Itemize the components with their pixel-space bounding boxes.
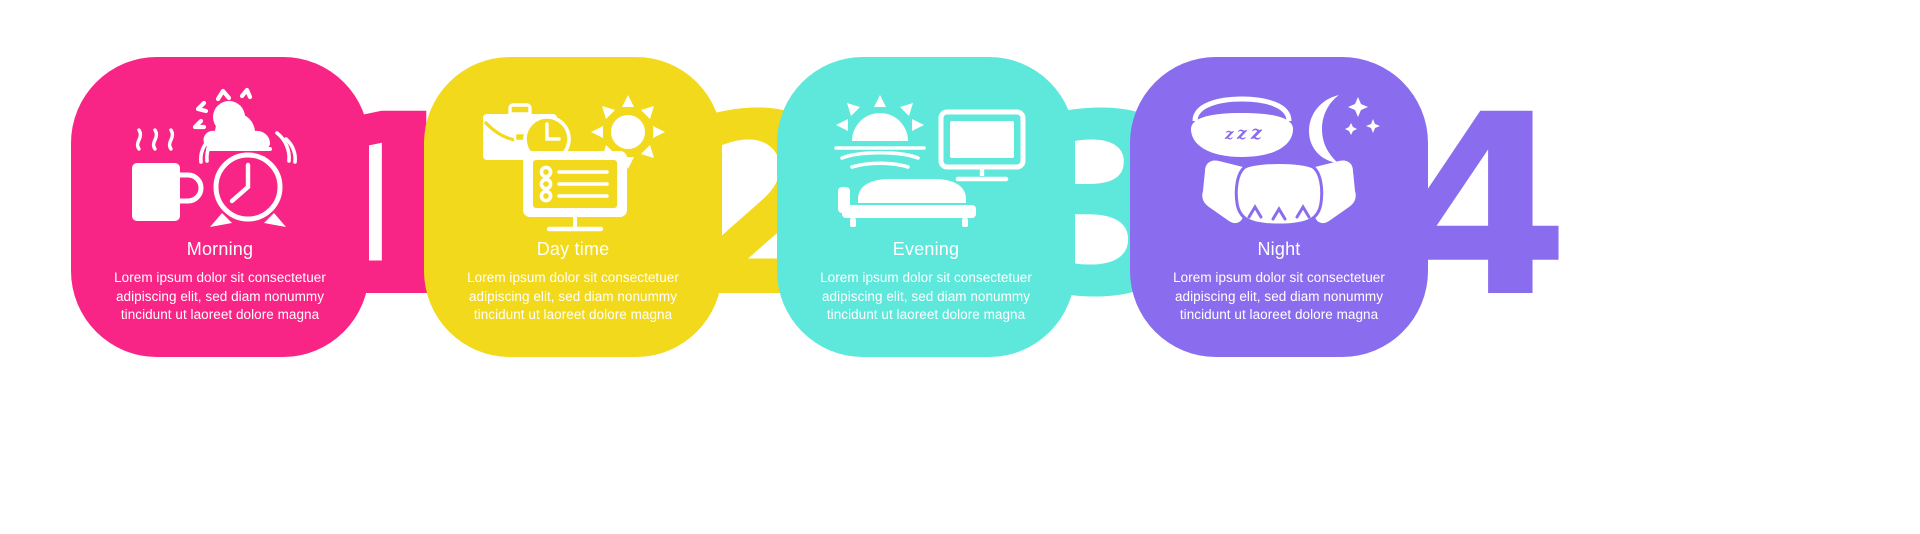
step-icons-4: z z z xyxy=(1173,85,1385,235)
step-content-3: Evening Lorem ipsum dolor sit consectetu… xyxy=(777,57,1075,357)
svg-text:z: z xyxy=(1236,124,1247,144)
step-icons-2 xyxy=(467,85,679,235)
bed-icon xyxy=(836,169,982,231)
step-content-1: Morning Lorem ipsum dolor sit consectetu… xyxy=(71,57,369,357)
step-body-line: adipiscing elit, sed diam nonummy xyxy=(440,288,706,307)
step-body-2: Lorem ipsum dolor sit consectetuer adipi… xyxy=(440,269,706,325)
step-panel-4[interactable]: 4 z z z xyxy=(1130,57,1428,357)
step-body-line: Lorem ipsum dolor sit consectetuer xyxy=(1146,269,1412,288)
step-panel-3[interactable]: 3 xyxy=(777,57,1075,357)
svg-text:z: z xyxy=(1224,125,1234,143)
step-panel-2[interactable]: 2 xyxy=(424,57,722,357)
step-body-line: Lorem ipsum dolor sit consectetuer xyxy=(440,269,706,288)
step-label-4: Night xyxy=(1257,239,1300,260)
step-body-line: adipiscing elit, sed diam nonummy xyxy=(793,288,1059,307)
step-body-line: adipiscing elit, sed diam nonummy xyxy=(1146,288,1412,307)
step-label-1: Morning xyxy=(187,239,253,260)
step-body-line: adipiscing elit, sed diam nonummy xyxy=(87,288,353,307)
pillows-icon xyxy=(1195,155,1363,231)
step-content-2: Day time Lorem ipsum dolor sit consectet… xyxy=(424,57,722,357)
step-icons-3 xyxy=(820,85,1032,235)
step-body-line: tincidunt ut laoreet dolore magna xyxy=(87,306,353,325)
svg-text:z: z xyxy=(1250,122,1263,144)
step-body-4: Lorem ipsum dolor sit consectetuer adipi… xyxy=(1146,269,1412,325)
step-label-3: Evening xyxy=(893,239,959,260)
alarm-clock-icon xyxy=(196,129,304,233)
sunset-icon xyxy=(826,93,934,173)
step-body-3: Lorem ipsum dolor sit consectetuer adipi… xyxy=(793,269,1059,325)
step-label-2: Day time xyxy=(537,239,610,260)
monitor-checklist-icon xyxy=(519,147,631,235)
step-body-line: tincidunt ut laoreet dolore magna xyxy=(440,306,706,325)
step-body-1: Lorem ipsum dolor sit consectetuer adipi… xyxy=(87,269,353,325)
step-content-4: z z z xyxy=(1130,57,1428,357)
step-icons-1 xyxy=(114,85,326,235)
step-body-line: Lorem ipsum dolor sit consectetuer xyxy=(87,269,353,288)
step-body-line: tincidunt ut laoreet dolore magna xyxy=(1146,306,1412,325)
infographic-canvas: 1 xyxy=(0,0,1920,534)
step-body-line: Lorem ipsum dolor sit consectetuer xyxy=(793,269,1059,288)
step-body-line: tincidunt ut laoreet dolore magna xyxy=(793,306,1059,325)
step-panel-1[interactable]: 1 xyxy=(71,57,369,357)
